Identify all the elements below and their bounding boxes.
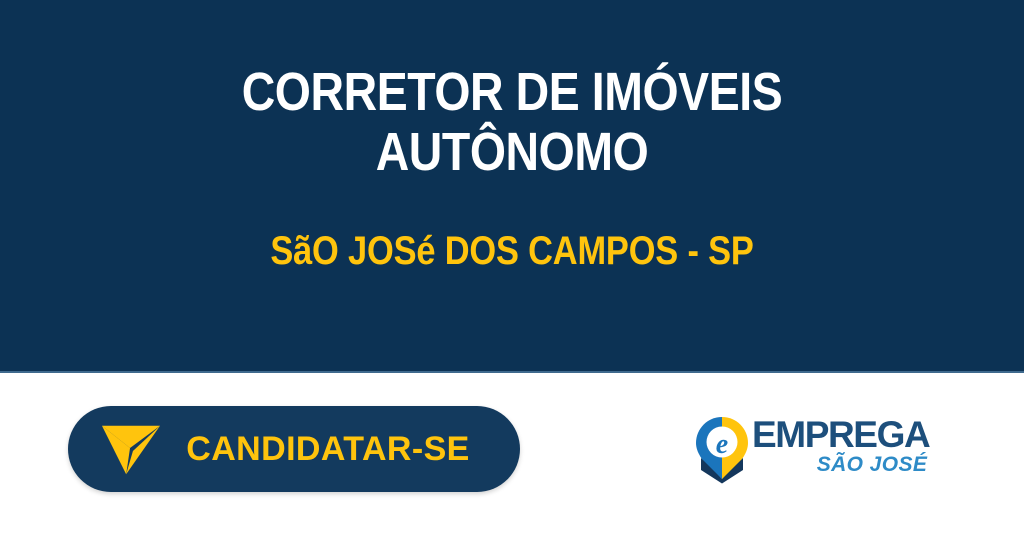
apply-button-label: CANDIDATAR-SE [162, 430, 520, 469]
page-title: CORRETOR DE IMÓVEIS AUTÔNOMO [72, 62, 953, 183]
brand-subtitle: SÃO JOSÉ [752, 454, 929, 476]
brand-wordmark: EMPREGA SÃO JOSÉ [752, 415, 929, 476]
brand-logo: e EMPREGA SÃO JOSÉ [694, 415, 906, 487]
job-ad-card: CORRETOR DE IMÓVEIS AUTÔNOMO SãO JOSé DO… [0, 0, 1024, 538]
send-plane-icon [100, 418, 162, 480]
svg-text:e: e [716, 429, 728, 460]
apply-button[interactable]: CANDIDATAR-SE [68, 406, 520, 492]
job-location-subtitle: SãO JOSé DOS CAMPOS - SP [72, 229, 953, 273]
footer-bar: CANDIDATAR-SE e EMPREGA SÃO JOSÉ [0, 375, 1024, 538]
hero-banner: CORRETOR DE IMÓVEIS AUTÔNOMO SãO JOSé DO… [0, 0, 1024, 373]
map-pin-e-icon: e [694, 416, 750, 484]
brand-name: EMPREGA [752, 417, 929, 453]
